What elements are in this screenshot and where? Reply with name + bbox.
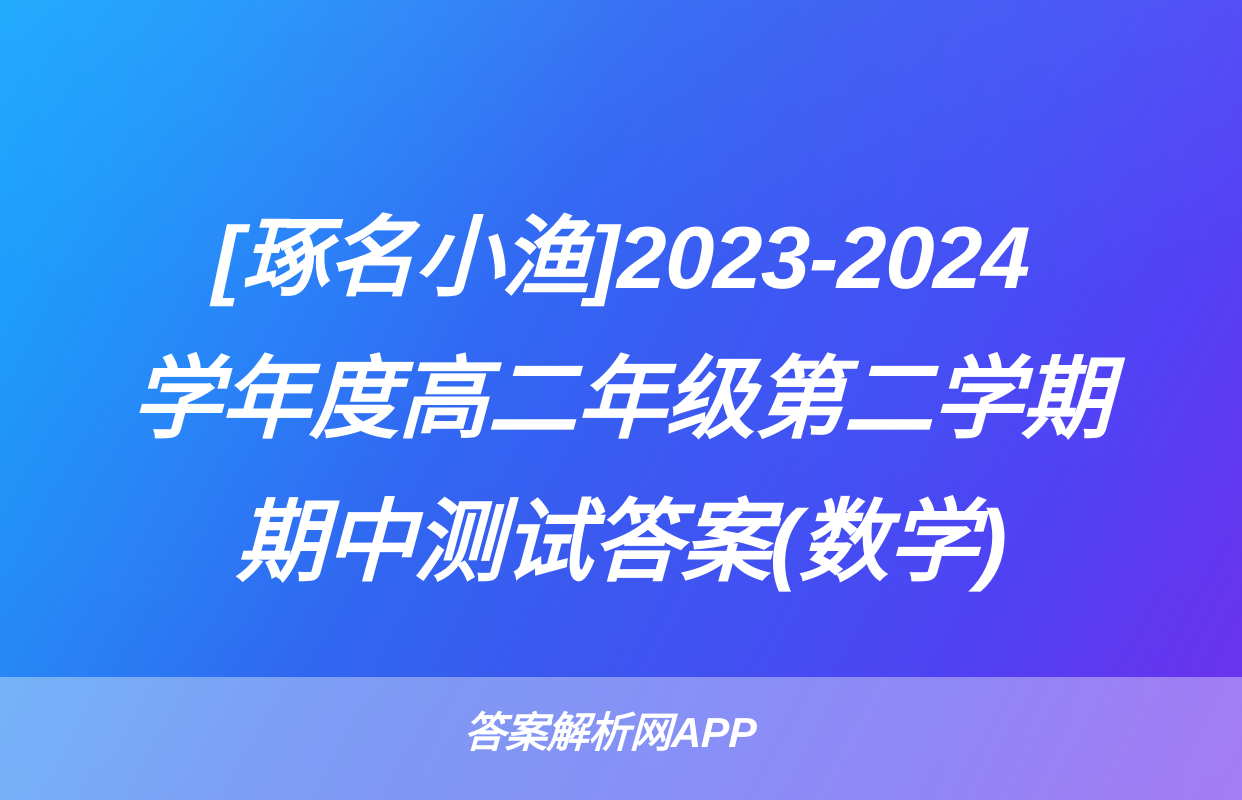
title-line-1: [琢名小渔]2023-2024 xyxy=(0,186,1242,329)
poster-title: [琢名小渔]2023-2024 学年度高二年级第二学期 期中测试答案(数学) xyxy=(0,186,1242,615)
title-line-2: 学年度高二年级第二学期 xyxy=(0,329,1242,472)
app-watermark: 答案解析网APP xyxy=(0,707,1242,759)
title-line-3: 期中测试答案(数学) xyxy=(0,472,1242,615)
poster-canvas: [琢名小渔]2023-2024 学年度高二年级第二学期 期中测试答案(数学) 答… xyxy=(0,0,1242,800)
